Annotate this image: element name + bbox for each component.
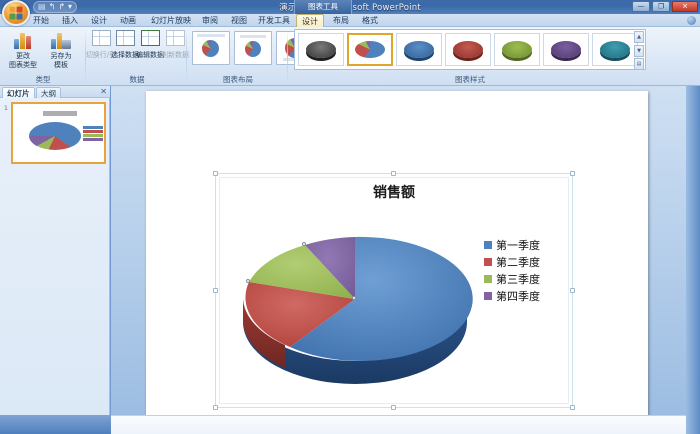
chart-style-4[interactable] xyxy=(445,33,491,66)
ribbon-group-data: 切换行/列 选择数据 编辑数据 刷新数据 数据 xyxy=(87,27,187,86)
styles-scroll-down-icon[interactable]: ▼ xyxy=(634,45,644,57)
tab-slideshow[interactable]: 幻灯片放映 xyxy=(146,14,196,27)
chart-layout-1[interactable] xyxy=(192,31,230,65)
resize-handle-bottom-right[interactable] xyxy=(570,405,575,410)
resize-handle-top-left[interactable] xyxy=(213,171,218,176)
restore-button[interactable]: ❐ xyxy=(652,1,670,12)
status-bar xyxy=(111,415,686,434)
ribbon-group-type-label: 类型 xyxy=(0,74,86,85)
layout-1-preview-icon xyxy=(202,40,219,57)
customize-qat-icon[interactable]: ▾ xyxy=(68,3,72,11)
save-as-template-button[interactable]: 另存为 模板 xyxy=(44,29,78,69)
tab-design[interactable]: 设计 xyxy=(86,14,112,27)
change-chart-type-label-1: 更改 xyxy=(6,52,40,61)
style-3-preview-icon xyxy=(404,41,434,58)
tab-developer[interactable]: 开发工具 xyxy=(253,14,295,27)
legend-label-q1: 第一季度 xyxy=(496,237,540,253)
chart-styles-scrollbar[interactable]: ▲ ▼ ▤ xyxy=(634,31,644,70)
window-controls: — ❐ ✕ xyxy=(632,1,698,12)
office-button[interactable] xyxy=(2,0,30,26)
close-icon: ✕ xyxy=(682,3,688,10)
tab-home[interactable]: 开始 xyxy=(28,14,54,27)
help-icon[interactable] xyxy=(687,16,696,25)
chart-style-1[interactable] xyxy=(298,33,344,66)
legend-swatch-q3 xyxy=(484,275,492,283)
chart-legend[interactable]: 第一季度 第二季度 第三季度 第四季度 xyxy=(484,236,566,304)
undo-icon[interactable]: ↰ xyxy=(49,3,56,11)
layout-2-title-bar xyxy=(240,35,266,38)
pie-chart[interactable] xyxy=(230,204,480,394)
legend-item-q4[interactable]: 第四季度 xyxy=(484,287,566,304)
resize-handle-middle-left[interactable] xyxy=(213,288,218,293)
resize-handle-bottom-center[interactable] xyxy=(391,405,396,410)
group-separator xyxy=(186,30,187,83)
legend-label-q2: 第二季度 xyxy=(496,254,540,270)
ribbon-group-chart-layouts-label: 图表布局 xyxy=(188,74,288,85)
slides-panel-tabs: 幻灯片 大纲 ✕ xyxy=(0,86,110,98)
legend-swatch-q2 xyxy=(484,258,492,266)
tab-chart-design[interactable]: 设计 xyxy=(296,14,324,27)
ribbon-group-chart-styles-label: 图表样式 xyxy=(294,74,646,85)
pie-handle-q2-q3[interactable] xyxy=(246,279,250,283)
chart-style-2[interactable] xyxy=(347,33,393,66)
ribbon-group-data-label: 数据 xyxy=(87,74,187,85)
left-bottom-strip xyxy=(0,415,111,434)
slide-number: 1 xyxy=(2,102,10,164)
ribbon: 更改 图表类型 另存为 模板 类型 切换行/列 xyxy=(0,27,700,86)
tab-chart-format[interactable]: 格式 xyxy=(357,14,383,27)
save-as-template-label-1: 另存为 xyxy=(44,52,78,61)
pie-center-handle[interactable] xyxy=(352,296,356,300)
title-bar: 演示文稿1 - Microsoft PowerPoint 图表工具 — ❐ ✕ xyxy=(0,0,700,14)
chart-style-7[interactable] xyxy=(592,33,638,66)
panel-tab-slides[interactable]: 幻灯片 xyxy=(2,87,35,98)
chart-layout-2[interactable] xyxy=(234,31,272,65)
chart-style-5[interactable] xyxy=(494,33,540,66)
office-logo-icon xyxy=(10,7,23,20)
legend-item-q2[interactable]: 第二季度 xyxy=(484,253,566,270)
styles-scroll-up-icon[interactable]: ▲ xyxy=(634,31,644,43)
save-icon[interactable]: ▤ xyxy=(38,3,46,11)
panel-tab-outline[interactable]: 大纲 xyxy=(36,87,61,98)
chart-style-6[interactable] xyxy=(543,33,589,66)
slide-thumbnail-1[interactable] xyxy=(11,102,106,164)
close-button[interactable]: ✕ xyxy=(672,1,698,12)
thumb-pie-icon xyxy=(29,122,81,150)
legend-swatch-q4 xyxy=(484,292,492,300)
save-as-template-icon xyxy=(44,31,78,51)
layout-1-title-bar xyxy=(197,34,225,37)
tab-insert[interactable]: 插入 xyxy=(57,14,83,27)
tab-animations[interactable]: 动画 xyxy=(115,14,141,27)
chart-title[interactable]: 销售额 xyxy=(216,182,572,202)
ribbon-tab-strip: 开始 插入 设计 动画 幻灯片放映 审阅 视图 开发工具 设计 布局 格式 xyxy=(0,14,700,27)
resize-handle-middle-right[interactable] xyxy=(570,288,575,293)
legend-item-q3[interactable]: 第三季度 xyxy=(484,270,566,287)
resize-handle-top-right[interactable] xyxy=(570,171,575,176)
legend-item-q1[interactable]: 第一季度 xyxy=(484,236,566,253)
slide-thumbnail-row: 1 xyxy=(2,102,107,164)
minimize-button[interactable]: — xyxy=(632,1,650,12)
change-chart-type-icon xyxy=(6,31,40,51)
resize-handle-bottom-left[interactable] xyxy=(213,405,218,410)
tab-chart-layout[interactable]: 布局 xyxy=(328,14,354,27)
layout-2-preview-icon xyxy=(245,41,261,57)
slides-panel: 幻灯片 大纲 ✕ 1 xyxy=(0,86,110,434)
style-4-preview-icon xyxy=(453,41,483,58)
ribbon-group-chart-layouts: ▲ ▼ 图表布局 xyxy=(188,27,288,86)
style-6-preview-icon xyxy=(551,41,581,58)
ribbon-group-type: 更改 图表类型 另存为 模板 类型 xyxy=(0,27,86,86)
chart-object[interactable]: 销售额 xyxy=(215,173,573,408)
redo-icon[interactable]: ↱ xyxy=(58,3,65,11)
legend-swatch-q1 xyxy=(484,241,492,249)
group-separator xyxy=(287,30,288,83)
panel-close-icon[interactable]: ✕ xyxy=(100,87,107,96)
chart-style-3[interactable] xyxy=(396,33,442,66)
resize-handle-top-center[interactable] xyxy=(391,171,396,176)
legend-label-q3: 第三季度 xyxy=(496,271,540,287)
pie-handle-q3-q4[interactable] xyxy=(302,242,306,246)
change-chart-type-button[interactable]: 更改 图表类型 xyxy=(6,29,40,69)
style-7-preview-icon xyxy=(600,41,630,58)
right-edge-strip xyxy=(686,86,700,434)
chart-styles-gallery[interactable]: ▲ ▼ ▤ xyxy=(294,29,646,70)
ribbon-group-chart-styles: ▲ ▼ ▤ 图表样式 xyxy=(294,27,694,86)
legend-label-q4: 第四季度 xyxy=(496,288,540,304)
tab-review[interactable]: 审阅 xyxy=(197,14,223,27)
chart-tools-contextual-label: 图表工具 xyxy=(294,0,352,14)
save-as-template-label-2: 模板 xyxy=(44,61,78,70)
quick-access-toolbar: ▤ ↰ ↱ ▾ xyxy=(33,1,77,13)
thumb-title-icon xyxy=(43,111,77,116)
style-2-preview-icon xyxy=(355,41,385,58)
slide-editing-area: 销售额 xyxy=(111,86,686,415)
tab-view[interactable]: 视图 xyxy=(226,14,252,27)
thumb-legend-icon xyxy=(83,126,103,144)
styles-more-icon[interactable]: ▤ xyxy=(634,58,644,70)
style-1-preview-icon xyxy=(306,41,336,58)
style-5-preview-icon xyxy=(502,41,532,58)
change-chart-type-label-2: 图表类型 xyxy=(6,61,40,70)
restore-icon: ❐ xyxy=(658,3,664,10)
slide-canvas[interactable]: 销售额 xyxy=(146,91,648,416)
minimize-icon: — xyxy=(638,3,645,10)
